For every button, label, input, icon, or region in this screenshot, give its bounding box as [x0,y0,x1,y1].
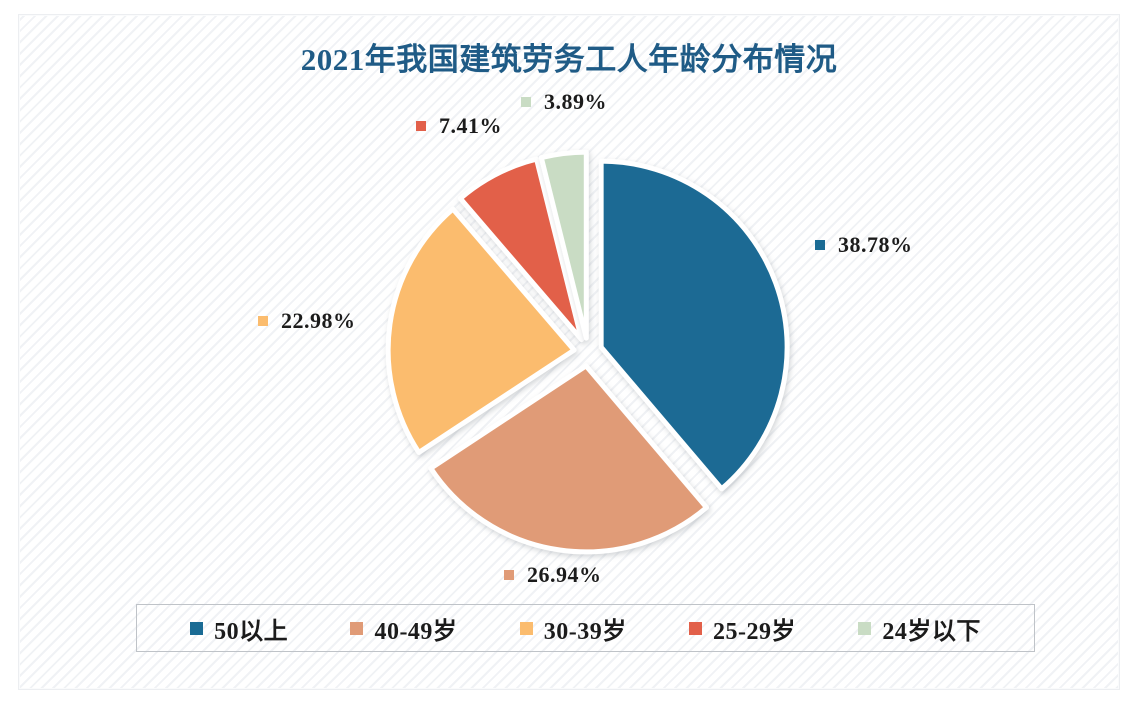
data-label-swatch [521,97,531,107]
legend-item-label: 50以上 [214,611,288,646]
legend-swatch-icon [689,622,702,635]
chart-page: 2021年我国建筑劳务工人年龄分布情况 38.78% 26.94% 22.98%… [0,0,1138,702]
legend-item-2[interactable]: 30-39岁 [520,611,627,646]
page-title: 2021年我国建筑劳务工人年龄分布情况 [0,34,1138,79]
legend-item-label: 24岁以下 [882,611,981,646]
legend: 50以上40-49岁30-39岁25-29岁24岁以下 [136,604,1035,652]
legend-item-3[interactable]: 25-29岁 [689,611,796,646]
data-label-50-and-above: 38.78% [815,232,913,258]
legend-swatch-icon [858,622,871,635]
legend-item-0[interactable]: 50以上 [190,611,288,646]
data-label-swatch [815,240,825,250]
data-label-swatch [416,121,426,131]
legend-item-label: 25-29岁 [713,611,796,646]
data-label-swatch [258,316,268,326]
chart-plot-panel [18,14,1120,690]
data-label-25-29: 7.41% [416,113,502,139]
legend-item-1[interactable]: 40-49岁 [350,611,457,646]
data-label-30-39: 22.98% [258,308,356,334]
legend-swatch-icon [350,622,363,635]
data-label-swatch [504,570,514,580]
legend-item-4[interactable]: 24岁以下 [858,611,981,646]
data-label-24-and-below: 3.89% [521,89,607,115]
data-label-40-49: 26.94% [504,562,602,588]
legend-swatch-icon [190,622,203,635]
data-label-value: 7.41% [439,113,502,139]
legend-item-label: 30-39岁 [544,611,627,646]
data-label-value: 3.89% [544,89,607,115]
data-label-value: 26.94% [527,562,602,588]
legend-item-label: 40-49岁 [374,611,457,646]
data-label-value: 22.98% [281,308,356,334]
data-label-value: 38.78% [838,232,913,258]
legend-swatch-icon [520,622,533,635]
